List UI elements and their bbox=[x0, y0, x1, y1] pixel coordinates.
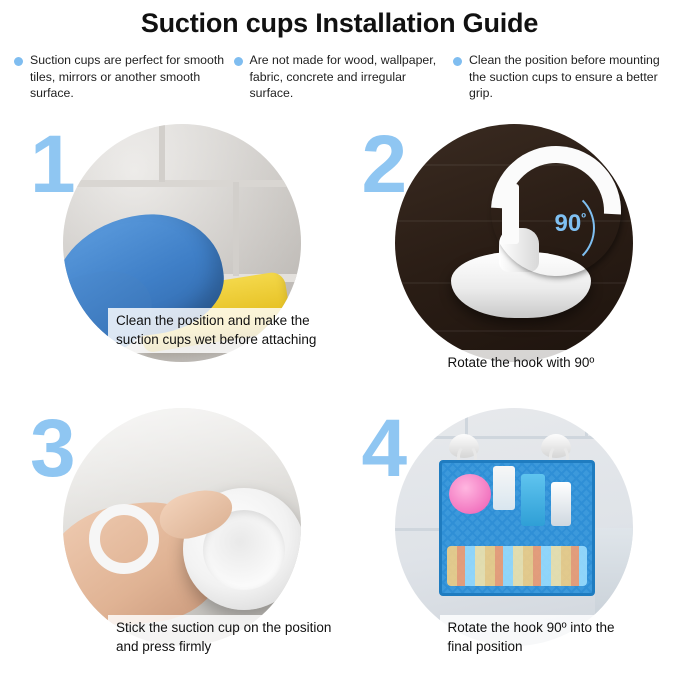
bath-toys-icon bbox=[447, 546, 587, 586]
bullet-item-3: Clean the position before mounting the s… bbox=[453, 52, 665, 102]
step-1-number: 1 bbox=[30, 124, 73, 206]
step-3: 3 Stick the suction cup on the position … bbox=[8, 408, 340, 663]
step-1-caption: Clean the position and make the suction … bbox=[108, 308, 354, 353]
step-3-caption: Stick the suction cup on the position an… bbox=[108, 615, 358, 660]
step-4-caption: Rotate the hook 90º into the final posit… bbox=[440, 615, 640, 660]
bullet-item-1-text: Suction cups are perfect for smooth tile… bbox=[30, 52, 226, 102]
step-2-number: 2 bbox=[362, 124, 405, 206]
steps-grid: 1 Clean the position and make the suctio… bbox=[0, 118, 679, 663]
angle-value: 90 bbox=[555, 210, 582, 237]
bottle-icon bbox=[493, 466, 515, 510]
bath-puff-icon bbox=[449, 474, 491, 514]
step-3-number: 3 bbox=[30, 408, 73, 490]
step-4-number: 4 bbox=[362, 408, 405, 490]
bottle-icon bbox=[521, 474, 545, 526]
hook-ring-icon bbox=[89, 504, 159, 574]
bullet-item-3-text: Clean the position before mounting the s… bbox=[469, 52, 665, 102]
step-2: 2 90º Rotate the hook with 90º bbox=[340, 118, 672, 408]
bullet-list: Suction cups are perfect for smooth tile… bbox=[0, 40, 679, 102]
bullet-item-1: Suction cups are perfect for smooth tile… bbox=[14, 52, 226, 102]
page-title: Suction cups Installation Guide bbox=[0, 0, 679, 40]
bullet-dot-icon bbox=[234, 57, 243, 66]
step-2-caption: Rotate the hook with 90º bbox=[440, 350, 644, 376]
step-4-image bbox=[395, 408, 633, 646]
bullet-item-2-text: Are not made for wood, wallpaper, fabric… bbox=[250, 52, 446, 102]
bottle-icon bbox=[551, 482, 571, 526]
step-2-image: 90º bbox=[395, 124, 633, 362]
step-3-image bbox=[63, 408, 301, 646]
step-1: 1 Clean the position and make the suctio… bbox=[8, 118, 340, 408]
bullet-item-2: Are not made for wood, wallpaper, fabric… bbox=[234, 52, 446, 102]
installation-guide-page: Suction cups Installation Guide Suction … bbox=[0, 0, 679, 686]
angle-unit: º bbox=[581, 210, 586, 225]
step-4: 4 bbox=[340, 408, 672, 663]
bullet-dot-icon bbox=[14, 57, 23, 66]
angle-label: 90º bbox=[555, 210, 586, 238]
bullet-dot-icon bbox=[453, 57, 462, 66]
